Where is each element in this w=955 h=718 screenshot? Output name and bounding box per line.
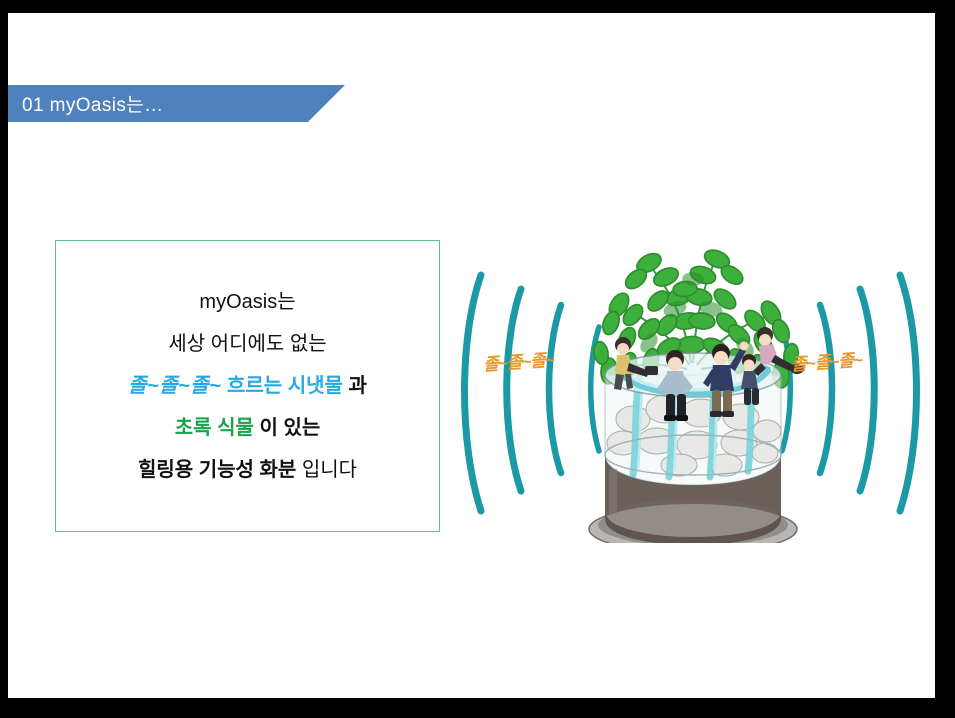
message-line-4: 초록 식물 이 있는 — [56, 407, 439, 449]
message-line-3-highlight: 흐르는 시냇물 — [227, 375, 343, 397]
message-box: myOasis는 세상 어디에도 없는 졸~졸~졸~ 흐르는 시냇물 과 초록 … — [55, 240, 440, 532]
message-line-3-sfx: 졸~졸~졸~ — [128, 375, 221, 397]
sound-effect-right: 졸~졸~졸~ — [790, 346, 862, 376]
message-line-5: 힐링용 기능성 화분 입니다 — [56, 449, 439, 491]
message-line-4-tail: 이 있는 — [259, 417, 320, 439]
illustration-svg — [453, 243, 928, 543]
message-line-3-tail: 과 — [348, 375, 366, 397]
message-line-4-highlight: 초록 식물 — [175, 417, 254, 439]
sound-effect-left: 졸~졸~졸~ — [482, 346, 554, 376]
sound-wave-left-group — [465, 275, 600, 511]
message-line-1: myOasis는 — [56, 281, 439, 323]
message-line-1-text: myOasis는 — [199, 291, 295, 313]
sound-wave-right-group — [782, 275, 917, 511]
section-banner: 01 myOasis는… — [8, 85, 345, 122]
message-line-2-text: 세상 어디에도 없는 — [168, 333, 326, 355]
message-line-2: 세상 어디에도 없는 — [56, 323, 439, 365]
slide-canvas: 01 myOasis는… myOasis는 세상 어디에도 없는 졸~졸~졸~ … — [8, 13, 935, 698]
banner-label: 01 myOasis는… — [22, 90, 164, 117]
message-line-5-tail: 입니다 — [302, 459, 357, 481]
message-line-5-highlight: 힐링용 기능성 화분 — [138, 459, 296, 481]
message-line-3: 졸~졸~졸~ 흐르는 시냇물 과 — [56, 365, 439, 407]
product-illustration: 졸~졸~졸~ 졸~졸~졸~ — [453, 243, 928, 543]
